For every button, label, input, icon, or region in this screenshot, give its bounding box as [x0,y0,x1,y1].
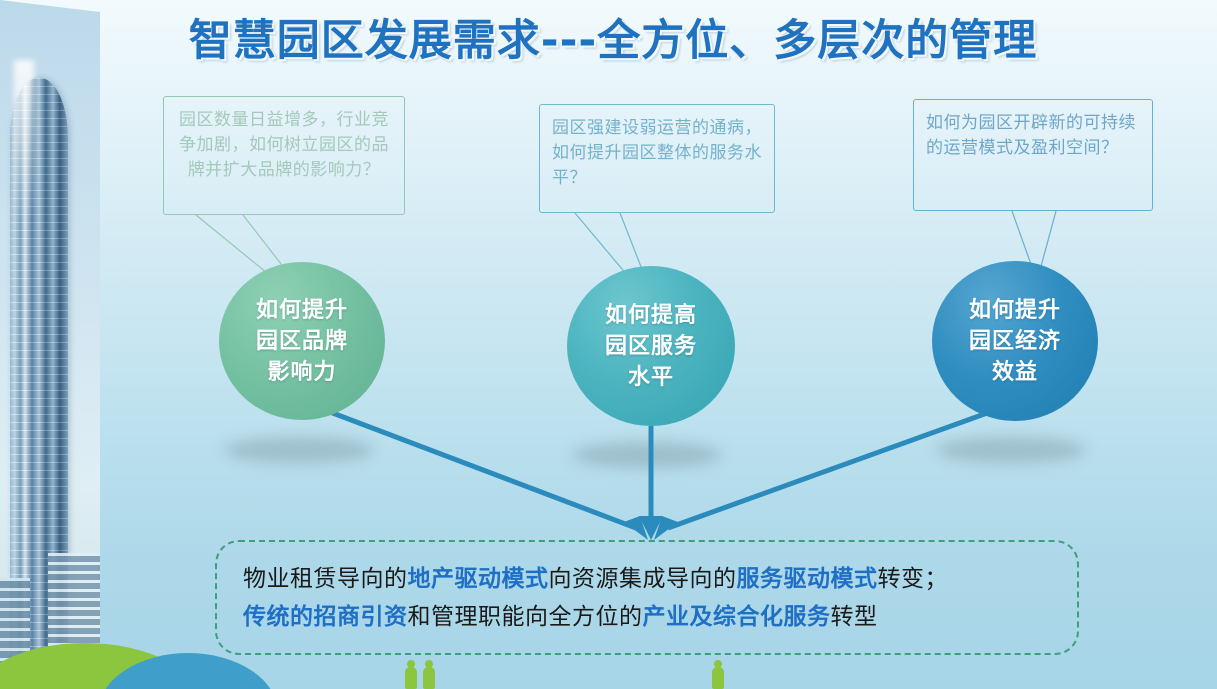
circle-economy-line1: 如何提升 [969,298,1061,323]
circle-brand-line1: 如何提升 [256,298,348,323]
circle-service-line2: 园区服务 [605,334,697,359]
circle-economy[interactable]: 如何提升 园区经济 效益 [932,261,1098,421]
circle-brand-line3: 影响力 [267,360,336,385]
conclusion-line2-seg2: 转型 [831,604,878,629]
callout-service: 园区强建设弱运营的通病，如何提升园区整体的服务水平？ [539,104,775,213]
circle-shadow-service [572,442,722,468]
circle-service-line3: 水平 [628,365,674,390]
circle-shadow-economy [936,437,1086,463]
person-icon-2 [423,667,435,689]
conclusion-line1-highlight1: 地产驱动模式 [408,566,549,591]
circle-service-line1: 如何提高 [605,303,697,328]
slide-canvas: 智慧园区发展需求---全方位、多层次的管理 园区数量日益增多，行业竞争加剧，如何… [0,0,1217,689]
page-title: 智慧园区发展需求---全方位、多层次的管理 [118,6,1108,68]
conclusion-line2-seg1: 和管理职能向全方位的 [408,604,643,629]
conclusion-line1-seg1: 物业租赁导向的 [243,566,408,591]
conclusion-box: 物业租赁导向的地产驱动模式向资源集成导向的服务驱动模式转变； 传统的招商引资和管… [215,540,1079,655]
circle-economy-line2: 园区经济 [969,329,1061,354]
conclusion-text: 物业租赁导向的地产驱动模式向资源集成导向的服务驱动模式转变； 传统的招商引资和管… [243,560,948,636]
circle-shadow-brand [224,437,374,463]
building-photo-strip [0,0,100,689]
circle-brand[interactable]: 如何提升 园区品牌 影响力 [219,262,385,420]
callout-profit: 如何为园区开辟新的可持续的运营模式及盈利空间？ [913,99,1153,211]
circle-service[interactable]: 如何提高 园区服务 水平 [567,266,735,426]
conclusion-line1-seg2: 向资源集成导向的 [549,566,737,591]
person-icon-1 [405,667,417,689]
circle-economy-line3: 效益 [992,360,1038,385]
circle-brand-line2: 园区品牌 [256,329,348,354]
tower-glow [14,60,34,220]
person-icon-3 [712,667,724,689]
conclusion-line1-highlight2: 服务驱动模式 [737,566,878,591]
callout-brand: 园区数量日益增多，行业竞争加剧，如何树立园区的品牌并扩大品牌的影响力？ [163,96,405,215]
conclusion-line1-seg3: 转变； [878,566,949,591]
conclusion-line2-highlight1: 传统的招商引资 [243,604,408,629]
conclusion-line2-highlight2: 产业及综合化服务 [643,604,831,629]
